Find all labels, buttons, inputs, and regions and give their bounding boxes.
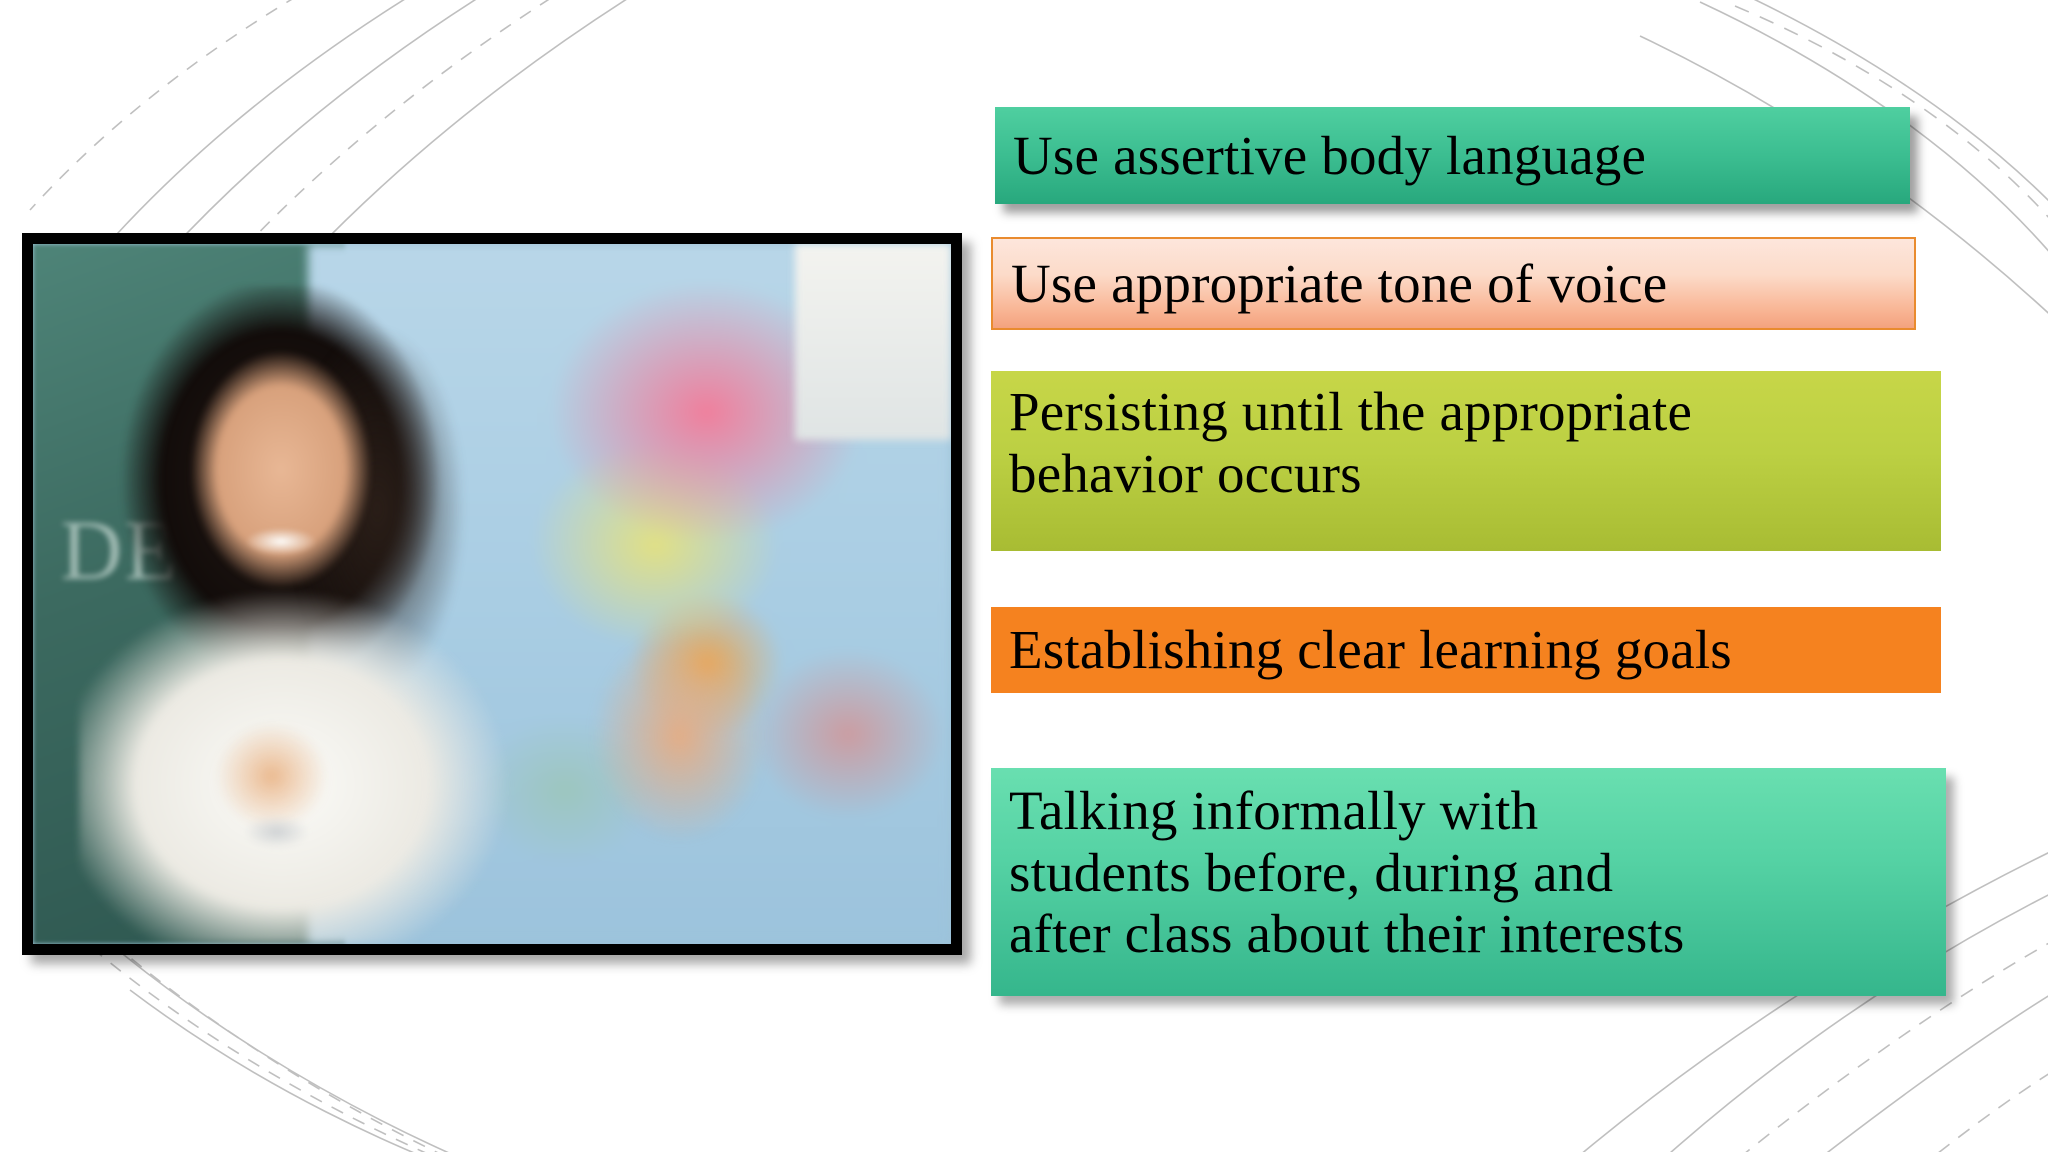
teacher-raised-arm [565, 608, 804, 874]
callout-box-talking-informally: Talking informally with students before,… [991, 768, 1946, 996]
teacher-face [171, 342, 391, 608]
callout-text: Establishing clear learning goals [991, 619, 1941, 681]
callout-text: Use appropriate tone of voice [993, 253, 1914, 315]
wall-highlight [795, 244, 951, 440]
teacher-smile [235, 524, 327, 559]
callout-box-learning-goals: Establishing clear learning goals [991, 607, 1941, 693]
callout-text: Talking informally with students before,… [991, 780, 1946, 965]
callout-list: Use assertive body language Use appropri… [985, 0, 1995, 1152]
teacher-photo: DE [22, 233, 962, 955]
callout-box-tone-of-voice: Use appropriate tone of voice [991, 237, 1916, 330]
callout-text: Persisting until the appropriate behavio… [991, 381, 1941, 504]
callout-box-assertive-body-language: Use assertive body language [995, 107, 1910, 204]
callout-box-persisting-behavior: Persisting until the appropriate behavio… [991, 371, 1941, 551]
teacher-photo-image: DE [33, 244, 951, 944]
slide-canvas: DE Use assertive body language Use appro… [0, 0, 2048, 1152]
teacher-wristwatch [235, 811, 318, 853]
callout-text: Use assertive body language [995, 125, 1910, 187]
